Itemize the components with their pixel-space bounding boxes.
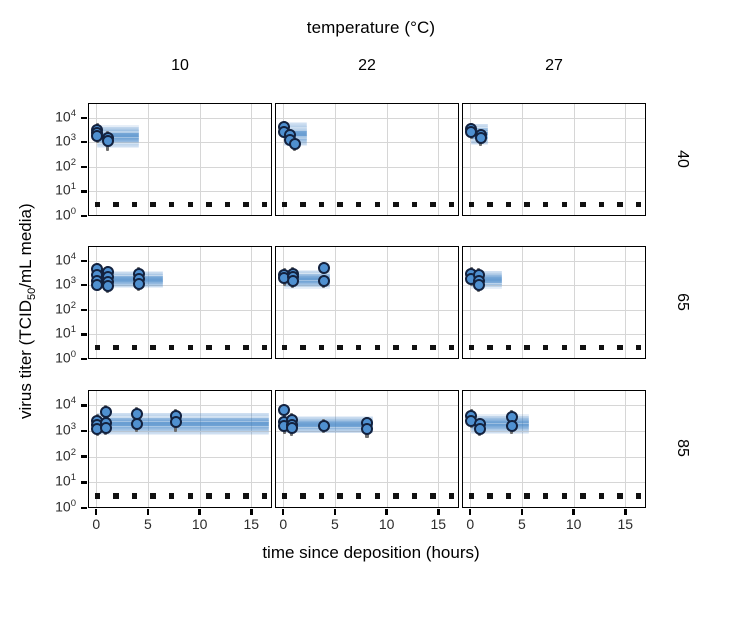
limit-of-detection-marker (412, 493, 418, 499)
data-point[interactable] (100, 422, 112, 434)
y-axis-tick (81, 430, 87, 432)
facet-row-label-85: 85 (673, 418, 691, 478)
limit-of-detection-marker (337, 202, 343, 208)
gridline-vertical (283, 247, 284, 358)
limit-of-detection-marker (225, 493, 231, 499)
limit-of-detection-marker (225, 345, 231, 351)
gridline-vertical (522, 391, 523, 507)
x-axis-tick (198, 509, 200, 515)
y-axis-tick (81, 309, 87, 311)
limit-of-detection-marker (95, 345, 101, 351)
data-point[interactable] (473, 279, 485, 291)
limit-of-detection-marker (113, 202, 119, 208)
y-axis-tick (81, 481, 87, 483)
data-point[interactable] (506, 420, 518, 432)
x-axis-tick-label: 0 (455, 516, 485, 532)
y-axis-tick (81, 117, 87, 119)
limit-of-detection-marker (617, 202, 623, 208)
x-axis-title: time since deposition (hours) (0, 543, 742, 563)
y-axis-tick (81, 141, 87, 143)
panel-22c-40rh (275, 103, 459, 216)
limit-of-detection-marker (562, 345, 568, 351)
limit-of-detection-marker (262, 493, 268, 499)
gridline-vertical (387, 391, 388, 507)
limit-of-detection-marker (543, 202, 549, 208)
y-axis-tick (81, 166, 87, 168)
gridline-horizontal (276, 191, 458, 192)
limit-of-detection-marker (282, 493, 288, 499)
x-axis-tick-label: 5 (133, 516, 163, 532)
facet-col-label-22: 22 (275, 57, 459, 75)
y-axis-tick-label: 104 (24, 108, 76, 125)
x-axis-tick (282, 509, 284, 515)
gridline-horizontal (276, 334, 458, 335)
panel-22c-65rh (275, 246, 459, 359)
limit-of-detection-marker (132, 345, 138, 351)
data-point[interactable] (318, 420, 330, 432)
limit-of-detection-marker (506, 345, 512, 351)
limit-of-detection-marker (150, 345, 156, 351)
data-point[interactable] (289, 138, 301, 150)
x-axis-tick (147, 509, 149, 515)
gridline-horizontal (89, 261, 271, 262)
x-axis-tick (572, 509, 574, 515)
x-axis-tick (521, 509, 523, 515)
y-axis-tick (81, 333, 87, 335)
limit-of-detection-marker (636, 202, 642, 208)
limit-of-detection-marker (487, 202, 493, 208)
y-axis-tick-label: 101 (24, 472, 76, 489)
y-axis-tick-label: 103 (24, 132, 76, 149)
limit-of-detection-marker (300, 493, 306, 499)
limit-of-detection-marker (580, 345, 586, 351)
panel-10c-65rh (88, 246, 272, 359)
limit-of-detection-marker (169, 202, 175, 208)
limit-of-detection-marker (319, 345, 325, 351)
gridline-vertical (200, 104, 201, 215)
limit-of-detection-marker (150, 493, 156, 499)
x-axis-tick-label: 10 (372, 516, 402, 532)
limit-of-detection-marker (506, 493, 512, 499)
limit-of-detection-marker (636, 345, 642, 351)
x-axis-tick-label: 5 (320, 516, 350, 532)
gridline-horizontal (89, 482, 271, 483)
limit-of-detection-marker (356, 493, 362, 499)
y-axis-tick-label: 104 (24, 395, 76, 412)
x-axis-tick-label: 15 (610, 516, 640, 532)
limit-of-detection-marker (206, 345, 212, 351)
x-axis-tick (250, 509, 252, 515)
posterior-band-strip (284, 432, 373, 433)
data-point[interactable] (474, 423, 486, 435)
gridline-horizontal (463, 457, 645, 458)
gridline-vertical (200, 247, 201, 358)
limit-of-detection-marker (337, 493, 343, 499)
y-axis-tick-label: 102 (24, 157, 76, 174)
gridline-vertical (200, 391, 201, 507)
gridline-horizontal (463, 261, 645, 262)
gridline-vertical (251, 104, 252, 215)
data-point[interactable] (131, 418, 143, 430)
limit-of-detection-marker (188, 493, 194, 499)
panel-10c-40rh (88, 103, 272, 216)
limit-of-detection-marker (599, 202, 605, 208)
gridline-vertical (574, 247, 575, 358)
gridline-vertical (335, 247, 336, 358)
y-axis-tick (81, 260, 87, 262)
x-axis-tick-label: 15 (236, 516, 266, 532)
gridline-vertical (251, 391, 252, 507)
gridline-vertical (335, 391, 336, 507)
gridline-horizontal (276, 167, 458, 168)
limit-of-detection-marker (562, 493, 568, 499)
gridline-horizontal (89, 405, 271, 406)
x-axis-tick (334, 509, 336, 515)
limit-of-detection-marker (412, 202, 418, 208)
gridline-vertical (438, 391, 439, 507)
data-point[interactable] (318, 275, 330, 287)
limit-of-detection-marker (412, 345, 418, 351)
y-axis-tick-label: 102 (24, 300, 76, 317)
y-axis-tick-label: 103 (24, 275, 76, 292)
y-axis-tick (81, 284, 87, 286)
limit-of-detection-marker (206, 493, 212, 499)
y-axis-tick-label: 100 (24, 206, 76, 223)
gridline-vertical (522, 104, 523, 215)
gridline-vertical (625, 247, 626, 358)
x-axis-tick (385, 509, 387, 515)
x-axis-tick (95, 509, 97, 515)
panel-27c-85rh (462, 390, 646, 508)
gridline-vertical (574, 104, 575, 215)
x-axis-tick (437, 509, 439, 515)
limit-of-detection-marker (487, 493, 493, 499)
gridline-horizontal (89, 191, 271, 192)
facet-col-label-10: 10 (88, 57, 272, 75)
limit-of-detection-marker (543, 345, 549, 351)
limit-of-detection-marker (132, 202, 138, 208)
limit-of-detection-marker (524, 345, 530, 351)
limit-of-detection-marker (282, 345, 288, 351)
y-axis-tick (81, 358, 87, 360)
gridline-horizontal (463, 482, 645, 483)
x-axis-tick-label: 15 (423, 516, 453, 532)
facet-col-label-27: 27 (462, 57, 646, 75)
gridline-vertical (148, 391, 149, 507)
limit-of-detection-marker (487, 345, 493, 351)
gridline-horizontal (463, 191, 645, 192)
gridline-vertical (96, 104, 97, 215)
y-axis-tick-label: 101 (24, 181, 76, 198)
limit-of-detection-marker (469, 493, 475, 499)
gridline-vertical (470, 247, 471, 358)
gridline-horizontal (276, 482, 458, 483)
limit-of-detection-marker (469, 345, 475, 351)
limit-of-detection-marker (169, 345, 175, 351)
y-axis-tick-label: 100 (24, 498, 76, 515)
limit-of-detection-marker (337, 345, 343, 351)
limit-of-detection-marker (599, 493, 605, 499)
x-axis-tick-label: 0 (268, 516, 298, 532)
limit-of-detection-marker (262, 345, 268, 351)
limit-of-detection-marker (580, 202, 586, 208)
gridline-horizontal (463, 118, 645, 119)
x-axis-tick-label: 10 (559, 516, 589, 532)
y-axis-tick (81, 404, 87, 406)
limit-of-detection-marker (449, 493, 455, 499)
y-axis-tick-label: 103 (24, 421, 76, 438)
limit-of-detection-marker (243, 345, 249, 351)
limit-of-detection-marker (356, 202, 362, 208)
gridline-vertical (96, 391, 97, 507)
limit-of-detection-marker (282, 202, 288, 208)
limit-of-detection-marker (375, 493, 381, 499)
gridline-horizontal (276, 405, 458, 406)
gridline-horizontal (276, 118, 458, 119)
gridline-horizontal (463, 405, 645, 406)
panel-27c-65rh (462, 246, 646, 359)
limit-of-detection-marker (132, 493, 138, 499)
data-point[interactable] (318, 262, 330, 274)
gridline-horizontal (276, 310, 458, 311)
posterior-band-strip (97, 433, 269, 434)
gridline-vertical (470, 104, 471, 215)
y-axis-tick (81, 190, 87, 192)
gridline-vertical (251, 247, 252, 358)
gridline-vertical (438, 247, 439, 358)
limit-of-detection-marker (188, 345, 194, 351)
facet-column-title: temperature (°C) (0, 18, 742, 38)
gridline-vertical (574, 391, 575, 507)
facet-row-label-65: 65 (673, 272, 691, 332)
limit-of-detection-marker (319, 493, 325, 499)
limit-of-detection-marker (599, 345, 605, 351)
facet-row-label-40: 40 (673, 129, 691, 189)
limit-of-detection-marker (469, 202, 475, 208)
y-axis-tick-label: 101 (24, 324, 76, 341)
limit-of-detection-marker (225, 202, 231, 208)
limit-of-detection-marker (356, 345, 362, 351)
limit-of-detection-marker (300, 345, 306, 351)
y-axis-tick-label: 104 (24, 251, 76, 268)
gridline-vertical (148, 104, 149, 215)
limit-of-detection-marker (617, 493, 623, 499)
limit-of-detection-marker (262, 202, 268, 208)
y-axis-tick (81, 455, 87, 457)
y-axis-tick (81, 507, 87, 509)
posterior-band-strip (97, 146, 138, 147)
limit-of-detection-marker (375, 202, 381, 208)
limit-of-detection-marker (243, 493, 249, 499)
limit-of-detection-marker (319, 202, 325, 208)
gridline-horizontal (463, 142, 645, 143)
panel-22c-85rh (275, 390, 459, 508)
y-axis-tick-label: 100 (24, 349, 76, 366)
limit-of-detection-marker (375, 345, 381, 351)
x-axis-tick (469, 509, 471, 515)
y-axis-tick (81, 215, 87, 217)
x-axis-tick-label: 0 (81, 516, 111, 532)
gridline-vertical (625, 104, 626, 215)
gridline-horizontal (89, 457, 271, 458)
data-point[interactable] (102, 280, 114, 292)
limit-of-detection-marker (506, 202, 512, 208)
limit-of-detection-marker (95, 202, 101, 208)
gridline-horizontal (463, 334, 645, 335)
x-axis-tick (624, 509, 626, 515)
limit-of-detection-marker (449, 202, 455, 208)
data-point[interactable] (133, 278, 145, 290)
limit-of-detection-marker (188, 202, 194, 208)
limit-of-detection-marker (636, 493, 642, 499)
limit-of-detection-marker (524, 202, 530, 208)
data-point[interactable] (286, 422, 298, 434)
limit-of-detection-marker (524, 493, 530, 499)
gridline-vertical (438, 104, 439, 215)
limit-of-detection-marker (169, 493, 175, 499)
limit-of-detection-marker (150, 202, 156, 208)
limit-of-detection-marker (449, 345, 455, 351)
gridline-vertical (148, 247, 149, 358)
panel-10c-85rh (88, 390, 272, 508)
gridline-horizontal (276, 457, 458, 458)
limit-of-detection-marker (580, 493, 586, 499)
limit-of-detection-marker (113, 345, 119, 351)
limit-of-detection-marker (393, 345, 399, 351)
gridline-vertical (387, 247, 388, 358)
limit-of-detection-marker (95, 493, 101, 499)
data-point[interactable] (475, 132, 487, 144)
x-axis-tick-label: 5 (507, 516, 537, 532)
limit-of-detection-marker (393, 202, 399, 208)
gridline-vertical (522, 247, 523, 358)
data-point[interactable] (361, 423, 373, 435)
gridline-horizontal (463, 167, 645, 168)
limit-of-detection-marker (617, 345, 623, 351)
gridline-horizontal (463, 310, 645, 311)
gridline-horizontal (276, 261, 458, 262)
gridline-vertical (335, 104, 336, 215)
chart-root: temperature (°C) 10 22 27 virus titer (T… (0, 0, 742, 619)
limit-of-detection-marker (430, 345, 436, 351)
limit-of-detection-marker (206, 202, 212, 208)
gridline-horizontal (89, 334, 271, 335)
limit-of-detection-marker (243, 202, 249, 208)
data-point[interactable] (287, 275, 299, 287)
limit-of-detection-marker (113, 493, 119, 499)
gridline-vertical (470, 391, 471, 507)
gridline-vertical (387, 104, 388, 215)
x-axis-tick-label: 10 (185, 516, 215, 532)
data-point[interactable] (102, 135, 114, 147)
gridline-horizontal (89, 118, 271, 119)
limit-of-detection-marker (430, 202, 436, 208)
panel-27c-40rh (462, 103, 646, 216)
limit-of-detection-marker (543, 493, 549, 499)
limit-of-detection-marker (562, 202, 568, 208)
limit-of-detection-marker (300, 202, 306, 208)
gridline-horizontal (89, 167, 271, 168)
data-point[interactable] (100, 406, 112, 418)
limit-of-detection-marker (393, 493, 399, 499)
gridline-vertical (625, 391, 626, 507)
limit-of-detection-marker (430, 493, 436, 499)
y-axis-tick-label: 102 (24, 447, 76, 464)
gridline-horizontal (89, 310, 271, 311)
